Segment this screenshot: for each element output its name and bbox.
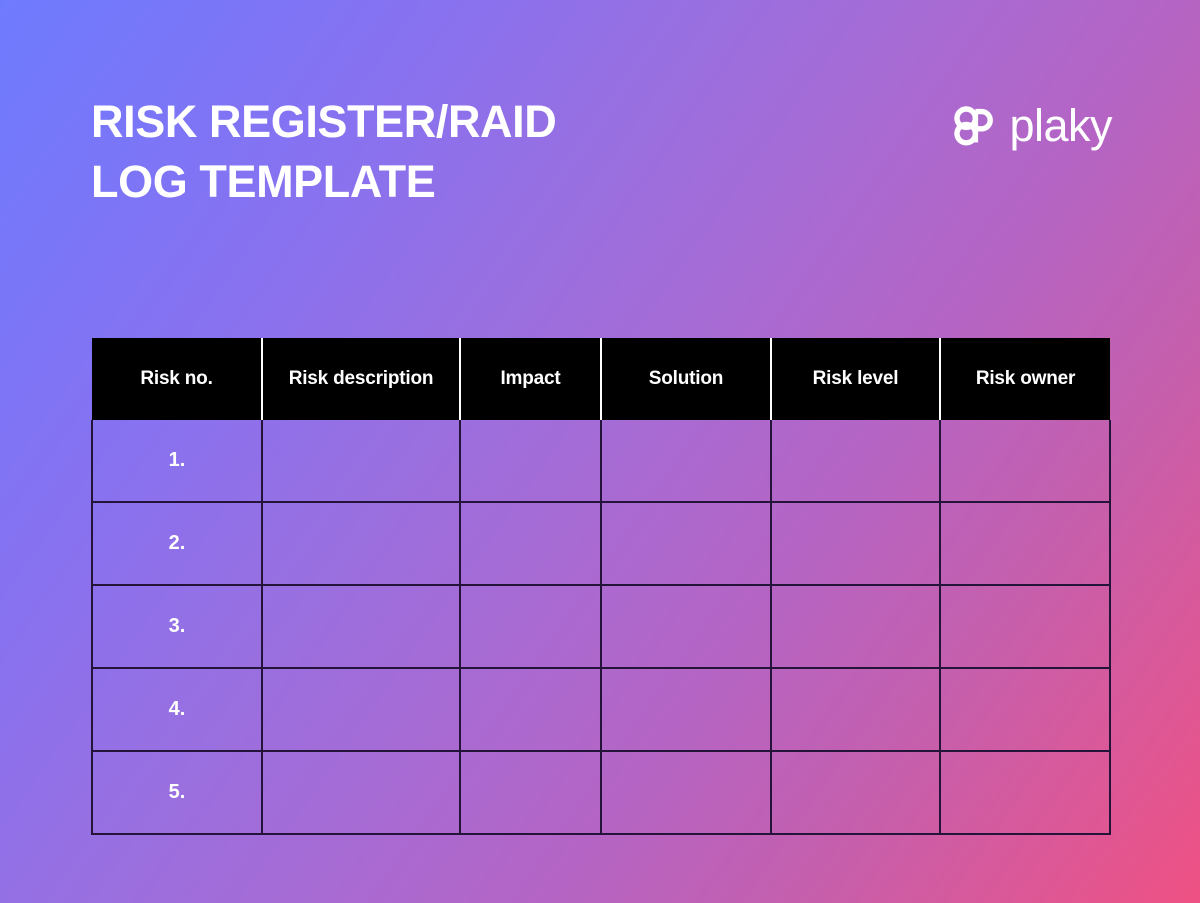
- cell-risk-no: 5.: [92, 751, 262, 834]
- table-row: 2.: [92, 502, 1110, 585]
- cell-impact[interactable]: [460, 751, 601, 834]
- cell-solution[interactable]: [601, 502, 771, 585]
- table-row: 4.: [92, 668, 1110, 751]
- cell-risk-owner[interactable]: [940, 502, 1110, 585]
- risk-register-table: Risk no. Risk description Impact Solutio…: [91, 338, 1111, 835]
- header: Risk Register/RAID Log Template plaky: [0, 0, 1200, 230]
- cell-risk-owner[interactable]: [940, 751, 1110, 834]
- cell-solution[interactable]: [601, 668, 771, 751]
- cell-risk-description[interactable]: [262, 502, 460, 585]
- brand-name: plaky: [1009, 103, 1112, 149]
- cell-risk-description[interactable]: [262, 420, 460, 502]
- cell-risk-description[interactable]: [262, 668, 460, 751]
- column-header-risk-description: Risk description: [262, 338, 460, 420]
- table-header-row: Risk no. Risk description Impact Solutio…: [92, 338, 1110, 420]
- table-row: 1.: [92, 420, 1110, 502]
- cell-risk-description[interactable]: [262, 585, 460, 668]
- cell-impact[interactable]: [460, 668, 601, 751]
- cell-risk-description[interactable]: [262, 751, 460, 834]
- cell-risk-no: 4.: [92, 668, 262, 751]
- cell-risk-level[interactable]: [771, 668, 940, 751]
- cell-risk-owner[interactable]: [940, 585, 1110, 668]
- cell-risk-level[interactable]: [771, 502, 940, 585]
- cell-impact[interactable]: [460, 502, 601, 585]
- cell-solution[interactable]: [601, 420, 771, 502]
- cell-risk-level[interactable]: [771, 420, 940, 502]
- cell-impact[interactable]: [460, 420, 601, 502]
- brand-logo: plaky: [950, 98, 1112, 154]
- column-header-risk-owner: Risk owner: [940, 338, 1110, 420]
- cell-risk-owner[interactable]: [940, 420, 1110, 502]
- cell-solution[interactable]: [601, 751, 771, 834]
- cell-risk-no: 3.: [92, 585, 262, 668]
- poster-canvas: Risk Register/RAID Log Template plaky: [0, 0, 1200, 903]
- cell-risk-no: 1.: [92, 420, 262, 502]
- column-header-impact: Impact: [460, 338, 601, 420]
- column-header-risk-level: Risk level: [771, 338, 940, 420]
- cell-solution[interactable]: [601, 585, 771, 668]
- table-row: 5.: [92, 751, 1110, 834]
- cell-risk-owner[interactable]: [940, 668, 1110, 751]
- cell-risk-no: 2.: [92, 502, 262, 585]
- column-header-risk-no: Risk no.: [92, 338, 262, 420]
- page-title: Risk Register/RAID Log Template: [91, 92, 731, 212]
- column-header-solution: Solution: [601, 338, 771, 420]
- table-row: 3.: [92, 585, 1110, 668]
- cell-risk-level[interactable]: [771, 585, 940, 668]
- plaky-logo-icon: [950, 103, 996, 149]
- cell-risk-level[interactable]: [771, 751, 940, 834]
- cell-impact[interactable]: [460, 585, 601, 668]
